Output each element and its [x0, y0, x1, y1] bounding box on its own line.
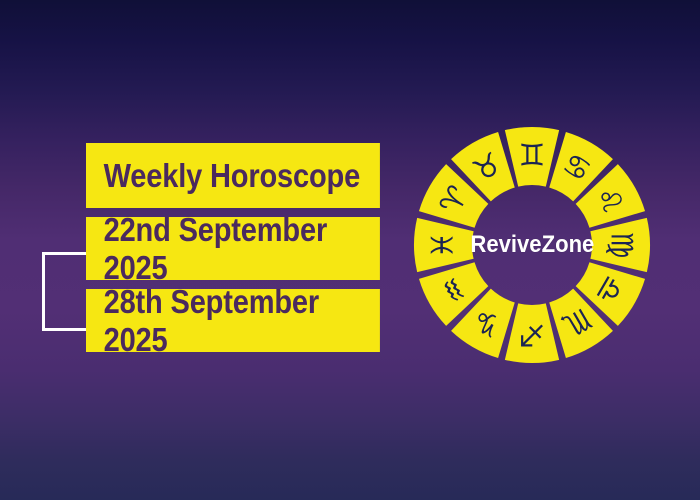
- zodiac-wheel-svg: ♊♋♌♍♎♏♐♑♒♓♈♉: [412, 122, 652, 368]
- virgo-icon: ♍: [604, 232, 639, 259]
- gemini-icon: ♊: [519, 139, 546, 174]
- zodiac-segment-gemini[interactable]: ♊: [505, 127, 559, 187]
- banner-stack: Weekly Horoscope 22nd September 2025 28t…: [86, 143, 380, 352]
- zodiac-segment-virgo[interactable]: ♍: [590, 218, 650, 272]
- pisces-icon: ♓: [426, 232, 461, 259]
- poster-canvas: Weekly Horoscope 22nd September 2025 28t…: [0, 0, 700, 500]
- date-end: 28th September 2025: [86, 289, 380, 352]
- page-title: Weekly Horoscope: [86, 143, 380, 208]
- zodiac-wheel: ♊♋♌♍♎♏♐♑♒♓♈♉ ReviveZone: [412, 122, 652, 368]
- zodiac-segment-sagittarius[interactable]: ♐: [505, 303, 559, 363]
- date-start: 22nd September 2025: [86, 217, 380, 280]
- zodiac-segment-pisces[interactable]: ♓: [414, 218, 474, 272]
- sagittarius-icon: ♐: [519, 317, 546, 352]
